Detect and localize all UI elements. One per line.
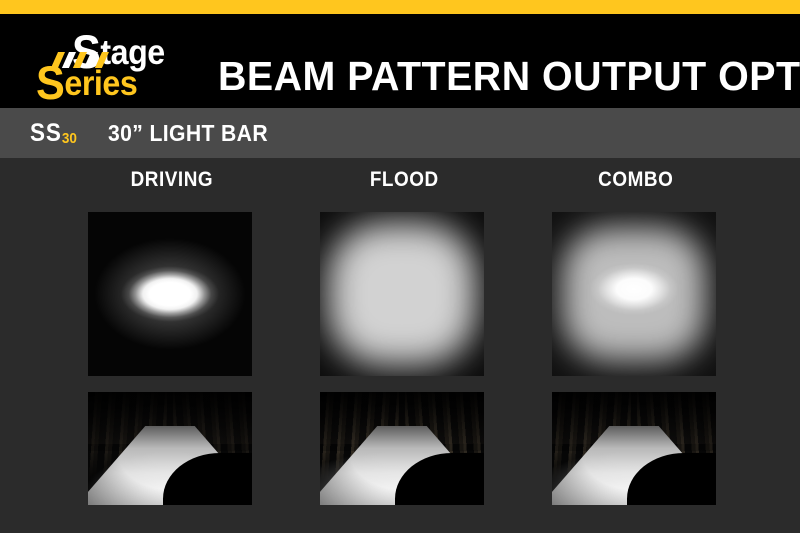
beam-comparison-grid: DRIVING FLOOD [0, 158, 800, 533]
stage-series-logo: Stage Series [26, 30, 206, 96]
photo-vignette [552, 392, 716, 505]
combo-beam-glow [552, 212, 716, 376]
combo-road-photo [552, 392, 716, 505]
column-label-text: COMBO [598, 169, 673, 190]
model-code-text: SS [30, 119, 62, 147]
logo-word-series: Series [36, 59, 137, 106]
column-label-combo: COMBO [520, 169, 752, 190]
combo-beam-pattern [552, 212, 716, 376]
column-label-flood: FLOOD [288, 169, 520, 190]
flood-beam-glow [320, 212, 484, 376]
photo-vignette [88, 392, 252, 505]
model-code-badge: SS30 [30, 121, 77, 151]
flood-beam-pattern [320, 212, 484, 376]
page-header: Stage Series BEAM PATTERN OUTPUT OPTIONS [0, 14, 800, 108]
column-label-text: DRIVING [131, 169, 214, 190]
driving-beam-pattern [88, 212, 252, 376]
logo-cap-s-bottom: S [36, 56, 64, 109]
flood-road-photo [320, 392, 484, 505]
driving-beam-glow [88, 212, 252, 376]
driving-road-photo [88, 392, 252, 505]
page-title: BEAM PATTERN OUTPUT OPTIONS [218, 52, 761, 100]
model-size-subscript: 30 [62, 130, 77, 147]
photo-vignette [320, 392, 484, 505]
top-accent-bar [0, 0, 800, 14]
column-label-driving: DRIVING [56, 169, 288, 190]
model-description: 30” LIGHT BAR [108, 122, 268, 145]
logo-text-eries: eries [64, 64, 137, 103]
model-subheader-bar: SS30 30” LIGHT BAR [0, 108, 800, 158]
column-label-text: FLOOD [370, 169, 439, 190]
